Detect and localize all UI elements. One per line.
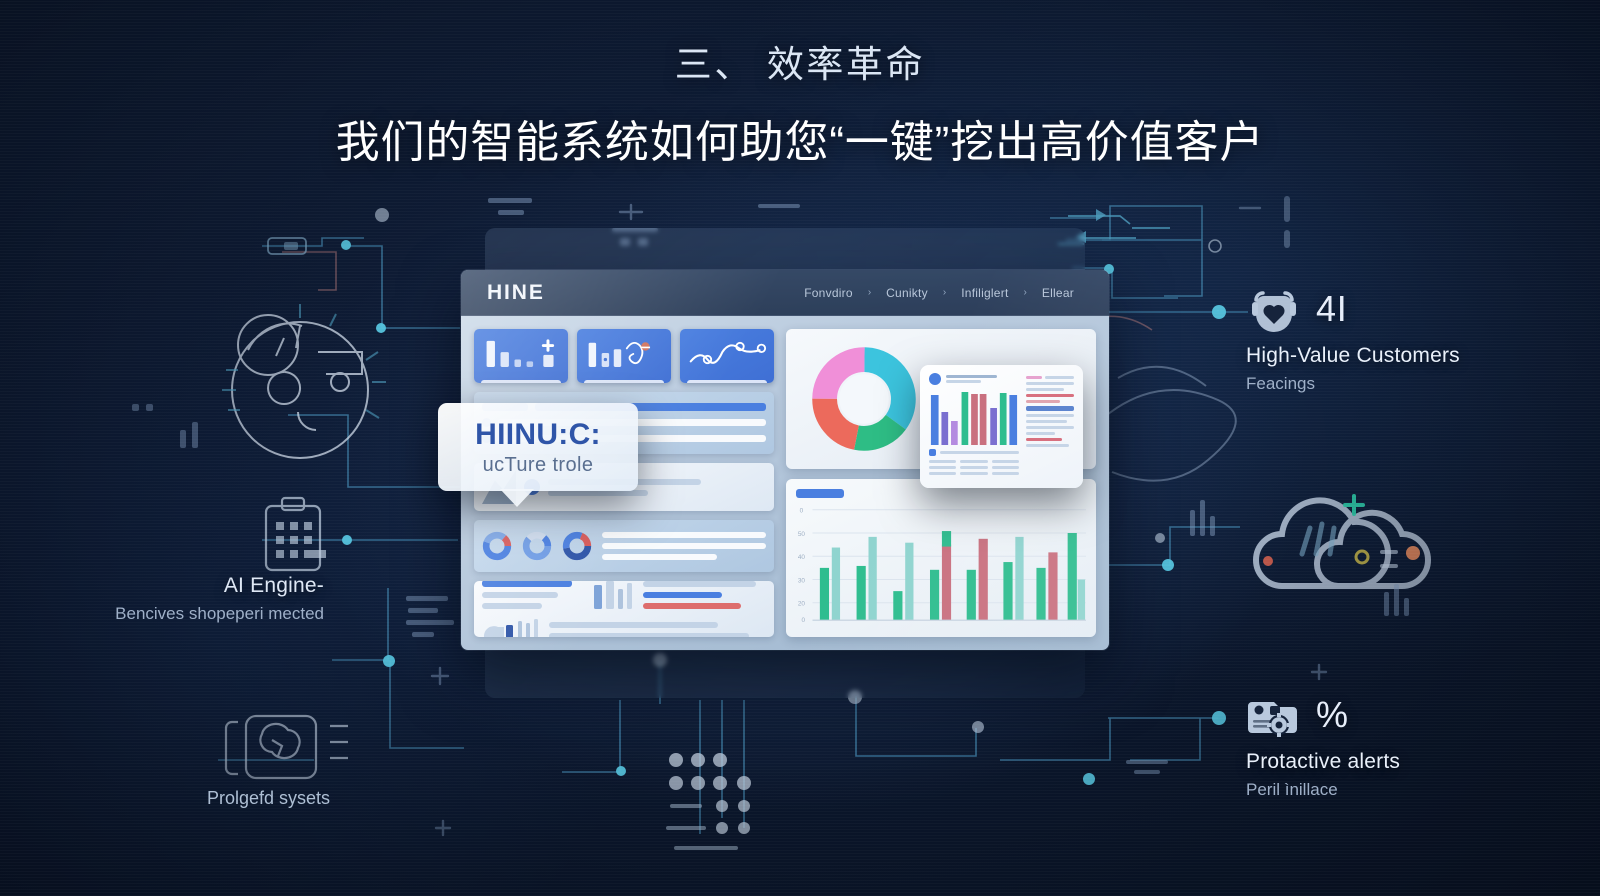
kpi-mini-bars-1-chart	[481, 336, 561, 370]
kpi-bar-2	[584, 380, 664, 383]
svg-text:20: 20	[798, 601, 805, 608]
kpi-bar-3	[687, 380, 767, 383]
alert-gear-icon	[1246, 692, 1302, 738]
mini-donut-ring-3	[562, 531, 592, 561]
avatar	[929, 373, 941, 385]
nav-item-1[interactable]: Cunikty	[877, 282, 937, 304]
mini-donut-ring-2	[522, 531, 552, 561]
kpi-card-row	[474, 329, 774, 383]
kpi-card-bars-1[interactable]	[474, 329, 568, 383]
svg-text:40: 40	[798, 554, 805, 561]
chevron-right-icon-1: ›	[943, 287, 946, 298]
table-inline-bars	[592, 581, 636, 609]
chevron-right-icon-0: ›	[868, 287, 871, 298]
dashboard-topbar: HINE Fonvdiro › Cunikty › Infiliglert › …	[461, 270, 1109, 316]
chart-legend-chip	[796, 489, 844, 498]
bar-chart-plot: 05040 30200	[796, 502, 1086, 626]
kpi-card-bars-2[interactable]	[577, 329, 671, 383]
legend-swatch	[929, 449, 936, 456]
chevron-right-icon-2: ›	[1024, 287, 1027, 298]
callout-high-value-customers: 4I High-Value Customers Feacings	[1246, 286, 1460, 394]
mini-card-side-list	[1026, 373, 1074, 480]
main-bar-chart-svg: 05040 30200	[796, 502, 1086, 626]
heading-kicker: 三、 效率革命	[0, 34, 1600, 88]
callout-title: High-Value Customers	[1246, 344, 1460, 368]
floating-logo-card[interactable]: HIINU:C: ucTure trole	[438, 403, 638, 491]
dashboard-nav: Fonvdiro › Cunikty › Infiliglert › Ellea…	[795, 282, 1083, 304]
callout-tail	[500, 489, 534, 507]
donut-rings-panel[interactable]	[474, 520, 774, 572]
mini-card-header	[929, 373, 1019, 385]
dashboard-logo: HINE	[487, 281, 545, 305]
donut-chart	[812, 347, 916, 451]
svg-text:50: 50	[798, 531, 805, 538]
callout-subtitle: Peril ìnillace	[1246, 780, 1400, 800]
callout-subtitle: Prolgefd sysets	[110, 788, 330, 809]
main-bar-chart-card[interactable]: 05040 30200	[786, 479, 1096, 637]
callout-proactive-alerts: % Protactive alerts Peril ìnillace	[1246, 692, 1400, 800]
mini-donut-ring-1	[482, 531, 512, 561]
callout-profiled-systems: Prolgefd sysets	[110, 782, 330, 809]
page-heading: 三、 效率革命 我们的智能系统如何助您“一键”挖出高价值客户	[0, 34, 1600, 170]
callout-subtitle: Feacings	[1246, 374, 1460, 394]
data-table-panel[interactable]	[474, 581, 774, 637]
nav-item-2[interactable]: Infiliglert	[952, 282, 1017, 304]
floating-analytics-card[interactable]	[920, 365, 1083, 488]
kpi-bar-1	[481, 380, 561, 383]
svg-text:30: 30	[798, 577, 805, 584]
callout-ai-engine: AI Engine- Bencives shopeperi mected	[92, 562, 324, 624]
floating-card-title: HIINU:C:	[475, 418, 601, 452]
floating-card-subtitle: ucTure trole	[483, 454, 594, 477]
svg-text:0: 0	[802, 617, 806, 624]
kpi-mini-line-3-chart	[687, 336, 767, 370]
callout-title: Protactive alerts	[1246, 750, 1400, 774]
metric-value: %	[1316, 694, 1349, 736]
kpi-mini-bars-2-chart	[584, 336, 664, 370]
shield-heart-icon	[1246, 286, 1302, 332]
nav-item-0[interactable]: Fonvdiro	[795, 282, 862, 304]
svg-text:0: 0	[800, 508, 804, 515]
metric-value: 4I	[1316, 288, 1347, 330]
nav-item-3[interactable]: Ellear	[1033, 282, 1083, 304]
mini-card-main	[929, 373, 1019, 480]
callout-subtitle: Bencives shopeperi mected	[92, 604, 324, 624]
kpi-card-line-3[interactable]	[680, 329, 774, 383]
table-inline-bars-2	[482, 617, 542, 637]
heading-main: 我们的智能系统如何助您“一键”挖出高价值客户	[0, 106, 1600, 170]
mini-card-bar-chart	[929, 390, 1019, 445]
callout-title: AI Engine-	[92, 574, 324, 598]
